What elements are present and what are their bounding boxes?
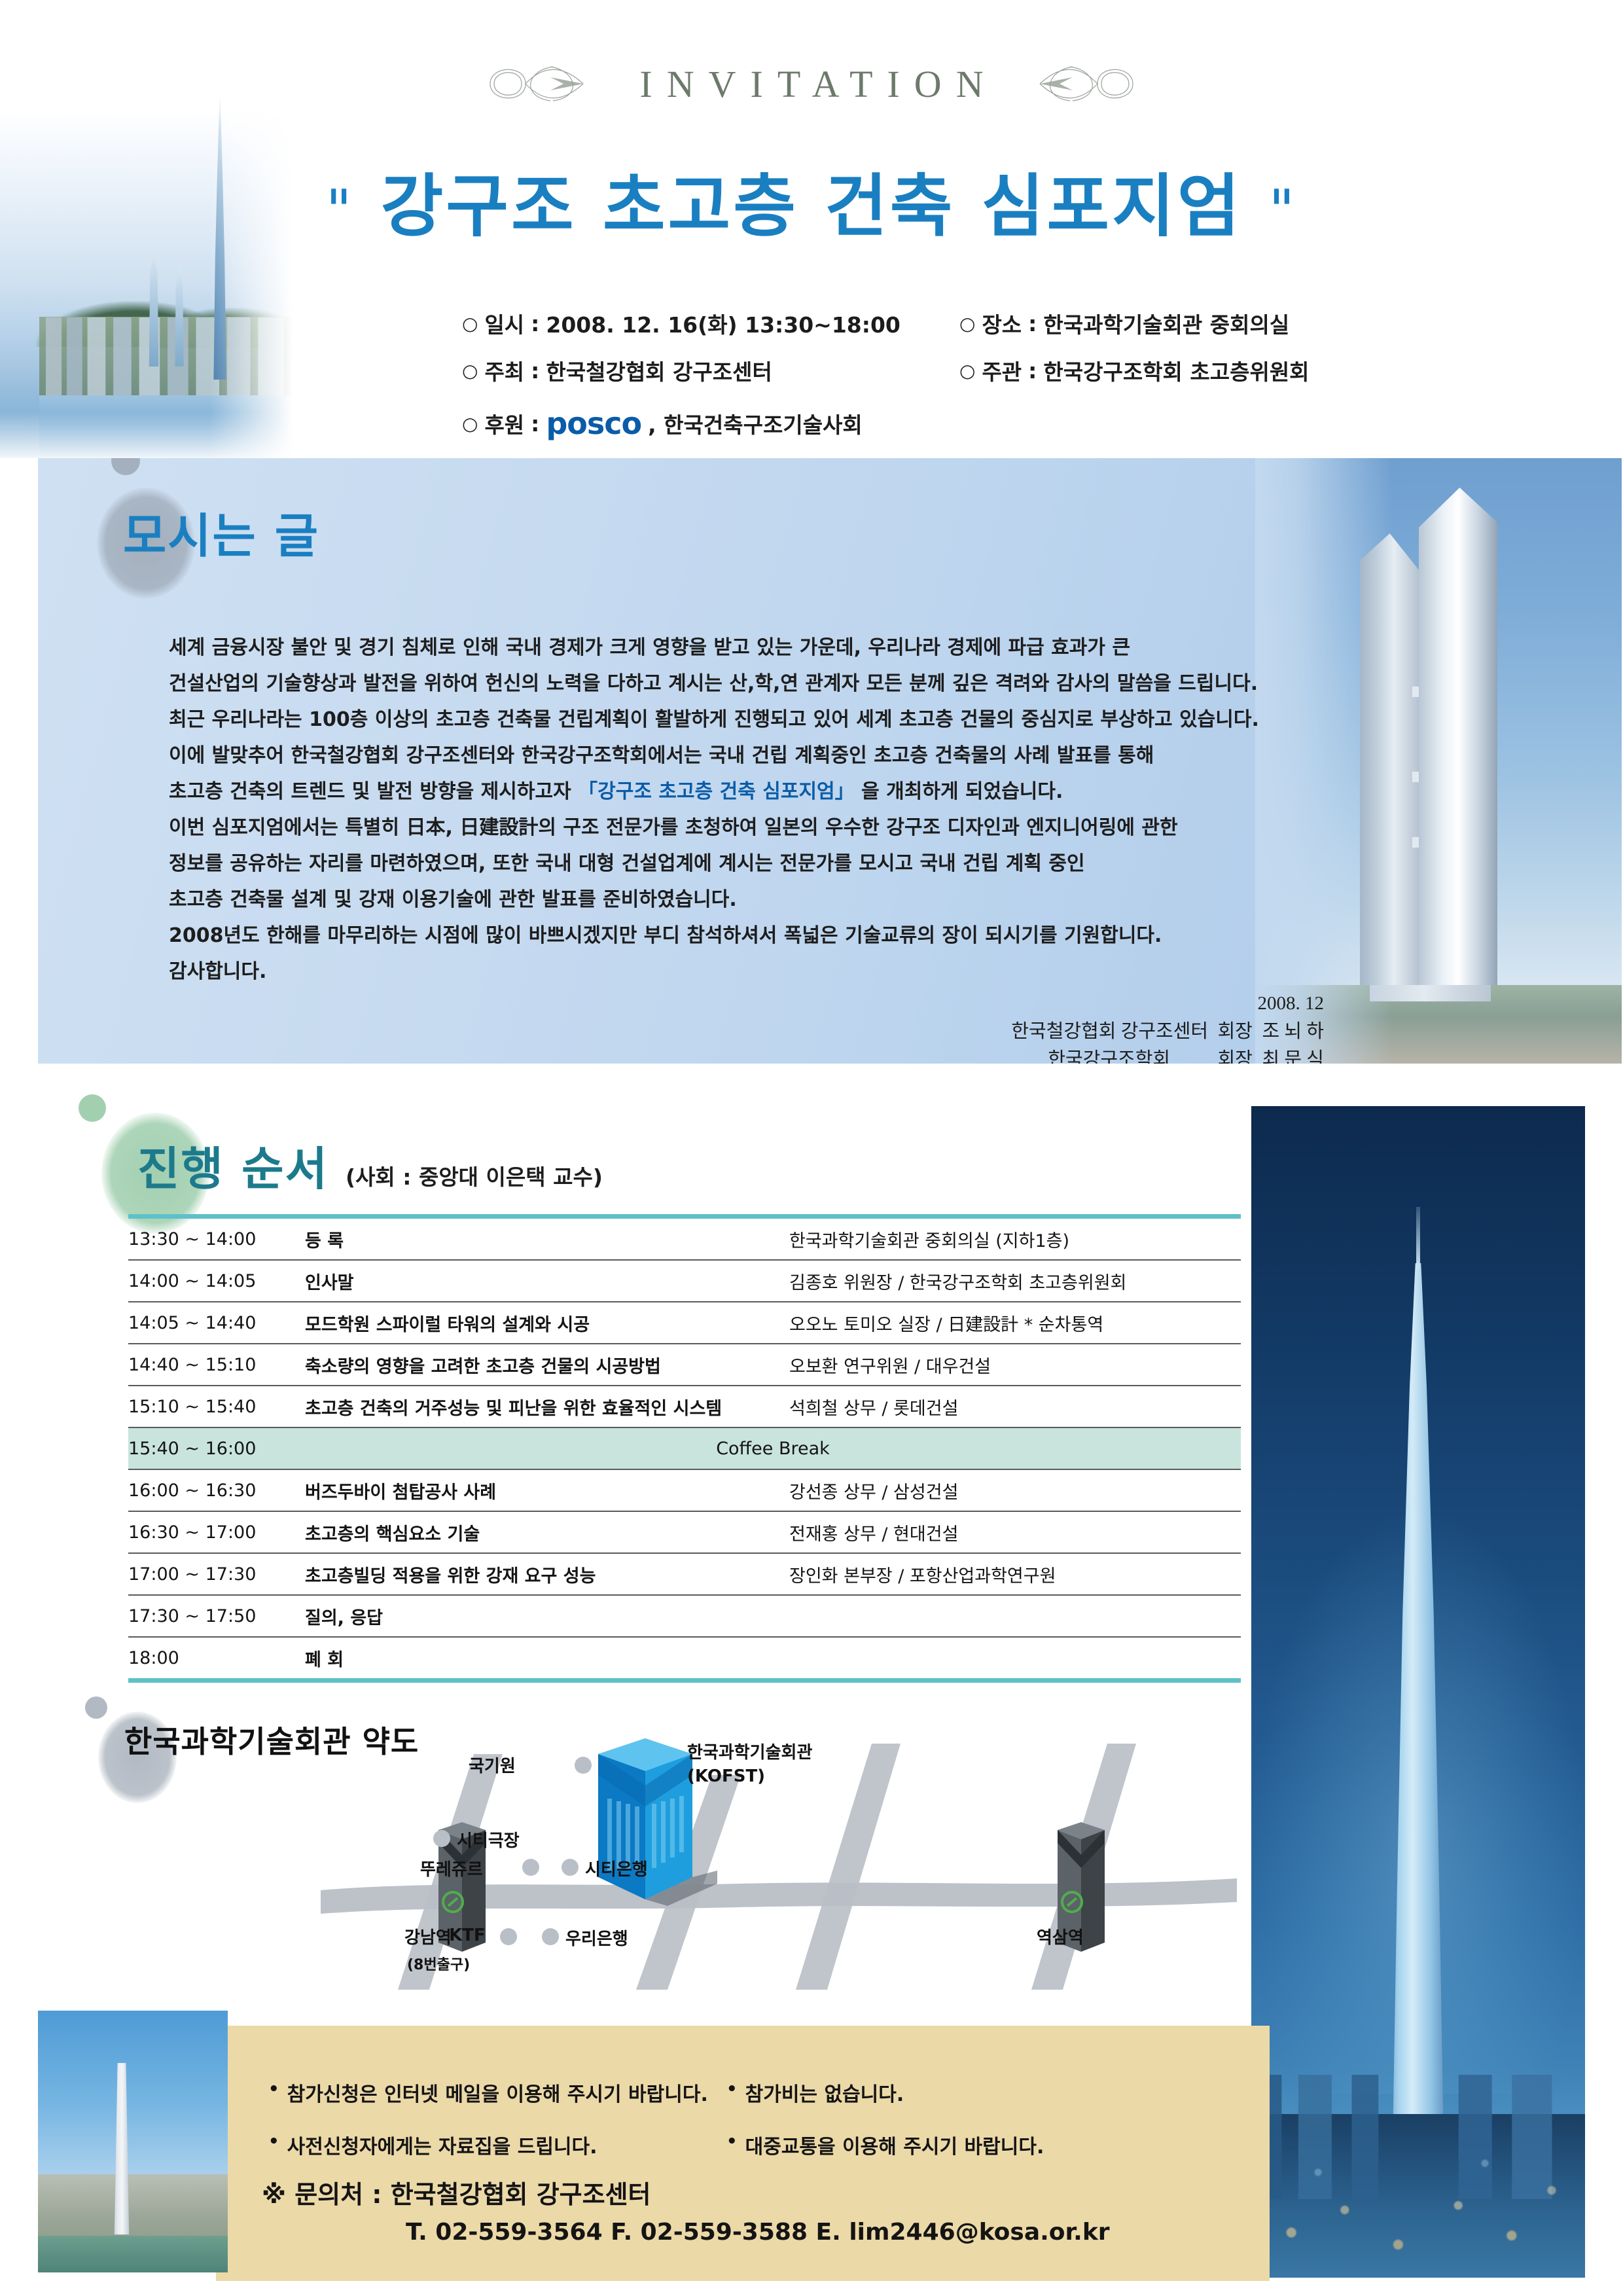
row-topic: 축소량의 영향을 고려한 초고층 건물의 시공방법 xyxy=(305,1344,789,1386)
greeting-highlight-suffix: 을 개최하게 되었습니다. xyxy=(855,780,1063,803)
footer-note: • 대중교통을 이용해 주시기 바랍니다. xyxy=(726,2130,1145,2159)
bullet-icon: • xyxy=(726,2078,738,2100)
footer-note-text: 참가비는 없습니다. xyxy=(745,2078,904,2107)
footer-contact-label: 문의처 : 한국철강협회 강구조센터 xyxy=(294,2180,651,2209)
row-speaker: 김종호 위원장 / 한국강구조학회 초고층위원회 xyxy=(789,1260,1241,1302)
circle-bullet-icon: ○ xyxy=(462,313,478,334)
greeting-paragraph: 감사합니다. xyxy=(169,954,1334,990)
page-title: " 강구조 초고층 건축 심포지엄 " xyxy=(0,151,1623,249)
row-time: 17:00 ~ 17:30 xyxy=(128,1553,305,1595)
meta-colon-date: : xyxy=(531,311,539,336)
map-label-venue: 한국과학기술회관 (KOFST) xyxy=(687,1741,812,1788)
greeting-paragraph: 2008년도 한해를 마무리하는 시점에 많이 바쁘시겠지만 부디 참석하셔서 … xyxy=(169,918,1334,954)
row-topic: 등 록 xyxy=(305,1217,789,1261)
greeting-panel: 모시는 글 세계 금융시장 불안 및 경기 침체로 인해 국내 경제가 크게 영… xyxy=(38,458,1622,1064)
circle-bullet-icon: ○ xyxy=(462,360,478,382)
row-time: 15:40 ~ 16:00 xyxy=(128,1427,305,1469)
greeting-signature: 2008. 12 한국철강협회 강구조센터 회장 조 뇌 하 한국강구조학회 회… xyxy=(1011,990,1324,1064)
flourish-left-icon xyxy=(485,58,596,110)
meta-colon-sponsor: : xyxy=(531,411,539,437)
greeting-paragraph: 세계 금융시장 불안 및 경기 침체로 인해 국내 경제가 크게 영향을 받고 … xyxy=(169,630,1334,666)
footer-notes: • 참가신청은 인터넷 메일을 이용해 주시기 바랍니다. • 참가비는 없습니… xyxy=(268,2078,1185,2159)
greeting-tower-main xyxy=(1419,488,1497,985)
program-heading-dot xyxy=(79,1094,106,1122)
meta-colon-organizer: : xyxy=(1028,358,1037,384)
meta-value-venue: 한국과학기술회관 중회의실 xyxy=(1043,308,1289,339)
meta-label-host: 주최 xyxy=(484,355,524,386)
program-heading: 진행 순서 xyxy=(137,1132,329,1198)
footer-contact-line: T. 02-559-3564 F. 02-559-3588 E. lim2446… xyxy=(406,2219,1110,2246)
meta-item-venue: ○ 장소 : 한국과학기술회관 중회의실 xyxy=(959,308,1522,339)
meta-label-date: 일시 xyxy=(484,308,524,339)
meta-colon-venue: : xyxy=(1028,311,1037,336)
table-row: 14:05 ~ 14:40 모드학원 스파이럴 타워의 설계와 시공 오오노 토… xyxy=(128,1302,1241,1344)
greeting-paragraph: 이번 심포지엄에서는 특별히 日本, 日建設計의 구조 전문가를 초청하여 일본… xyxy=(169,810,1334,846)
map-dot-city-theater xyxy=(433,1830,450,1847)
meta-value-organizer: 한국강구조학회 초고층위원회 xyxy=(1043,355,1309,386)
bullet-icon: • xyxy=(726,2130,738,2153)
title-close-quote: " xyxy=(1269,178,1298,243)
greeting-paragraph: 정보를 공유하는 자리를 마련하였으며, 또한 국내 대형 건설업계에 계시는 … xyxy=(169,846,1334,882)
circle-bullet-icon: ○ xyxy=(959,313,975,334)
table-row: 16:00 ~ 16:30 버즈두바이 첨탑공사 사례 강선종 상무 / 삼성건… xyxy=(128,1469,1241,1511)
title-open-quote: " xyxy=(326,178,355,243)
row-time: 14:40 ~ 15:10 xyxy=(128,1344,305,1386)
poster-page: INVITATION " 강구조 초고층 건축 심포지엄 " ○ 일시 xyxy=(0,0,1623,2296)
map-label-city-theater: 시티극장 xyxy=(457,1827,520,1852)
greeting-paragraph-highlight: 초고층 건축의 트렌드 및 발전 방향을 제시하고자 「강구조 초고층 건축 심… xyxy=(169,774,1334,810)
map-dot-woori-bank xyxy=(542,1928,559,1945)
program-schedule-table: 13:30 ~ 14:00 등 록 한국과학기술회관 중회의실 (지하1층) 1… xyxy=(128,1214,1241,1683)
night-tower-spire xyxy=(1416,1207,1420,1270)
table-row: 14:40 ~ 15:10 축소량의 영향을 고려한 초고층 건물의 시공방법 … xyxy=(128,1344,1241,1386)
row-topic: 폐 회 xyxy=(305,1637,789,1681)
greeting-body: 세계 금융시장 불안 및 경기 침체로 인해 국내 경제가 크게 영향을 받고 … xyxy=(169,630,1334,990)
row-speaker: 장인화 본부장 / 포항산업과학연구원 xyxy=(789,1553,1241,1595)
map-label-tous-les-jours: 뚜레쥬르 xyxy=(420,1856,483,1880)
night-city-lights xyxy=(1251,2127,1585,2278)
map-label-yeoksam-station: 역삼역 xyxy=(1037,1924,1084,1948)
table-row: 14:00 ~ 14:05 인사말 김종호 위원장 / 한국강구조학회 초고층위… xyxy=(128,1260,1241,1302)
map-dot-gukkiwon xyxy=(575,1757,592,1774)
meta-item-host: ○ 주최 : 한국철강협회 강구조센터 xyxy=(462,355,959,386)
signature-date: 2008. 12 xyxy=(1011,990,1324,1018)
footer-tower-image xyxy=(38,2011,228,2272)
row-speaker: 석희철 상무 / 롯데건설 xyxy=(789,1386,1241,1427)
map-label-gangnam-station: 강남역 xyxy=(404,1924,452,1948)
map-dot-citibank xyxy=(562,1859,579,1876)
signature-line-2: 한국강구조학회 회장 최 문 식 xyxy=(1011,1046,1324,1064)
map-label-citibank: 시티은행 xyxy=(585,1856,648,1880)
footer-note: • 참가비는 없습니다. xyxy=(726,2078,1145,2107)
greeting-paragraph: 초고층 건축물 설계 및 강재 이용기술에 관한 발표를 준비하였습니다. xyxy=(169,882,1334,918)
row-speaker: 강선종 상무 / 삼성건설 xyxy=(789,1469,1241,1511)
title-text: 강구조 초고층 건축 심포지엄 xyxy=(381,166,1243,246)
footer-note-text: 참가신청은 인터넷 메일을 이용해 주시기 바랍니다. xyxy=(287,2078,708,2107)
footer-river xyxy=(38,2236,228,2272)
map-label-gangnam-exit: (8번출구) xyxy=(407,1953,470,1974)
greeting-heading: 모시는 글 xyxy=(123,497,319,566)
meta-item-organizer: ○ 주관 : 한국강구조학회 초고층위원회 xyxy=(959,355,1522,386)
map-heading-dot xyxy=(85,1696,107,1719)
row-topic: 인사말 xyxy=(305,1260,789,1302)
night-tower-image xyxy=(1251,1106,1585,2278)
row-time: 18:00 xyxy=(128,1637,305,1681)
greeting-paragraph: 건설산업의 기술향상과 발전을 위하여 헌신의 노력을 다하고 계시는 산,학,… xyxy=(169,666,1334,702)
footer-note: • 참가신청은 인터넷 메일을 이용해 주시기 바랍니다. xyxy=(268,2078,726,2107)
map-label-woori-bank: 우리은행 xyxy=(565,1926,628,1950)
row-topic: 초고층빌딩 적용을 위한 강재 요구 성능 xyxy=(305,1553,789,1595)
map-dot-ktf xyxy=(500,1928,517,1945)
row-time: 15:10 ~ 15:40 xyxy=(128,1386,305,1427)
meta-spacer xyxy=(959,402,1522,441)
event-meta: ○ 일시 : 2008. 12. 16(화) 13:30~18:00 ○ 장소 … xyxy=(462,308,1509,441)
program-moderator: (사회 : 중앙대 이은택 교수) xyxy=(346,1160,603,1191)
greeting-highlight-prefix: 초고층 건축의 트렌드 및 발전 방향을 제시하고자 xyxy=(169,780,578,803)
meta-colon-host: : xyxy=(531,358,539,384)
row-speaker: 전재홍 상무 / 현대건설 xyxy=(789,1511,1241,1553)
table-row: 13:30 ~ 14:00 등 록 한국과학기술회관 중회의실 (지하1층) xyxy=(128,1217,1241,1261)
circle-bullet-icon: ○ xyxy=(959,360,975,382)
footer-note: • 사전신청자에게는 자료집을 드립니다. xyxy=(268,2130,726,2159)
footer-note-text: 대중교통을 이용해 주시기 바랍니다. xyxy=(745,2130,1044,2159)
row-topic: 초고층의 핵심요소 기술 xyxy=(305,1511,789,1553)
footer-note-text: 사전신청자에게는 자료집을 드립니다. xyxy=(287,2130,597,2159)
table-row-coffee-break: 15:40 ~ 16:00 Coffee Break xyxy=(128,1427,1241,1469)
map-venue-name: 한국과학기술회관 xyxy=(687,1743,812,1763)
table-row: 17:00 ~ 17:30 초고층빌딩 적용을 위한 강재 요구 성능 장인화 … xyxy=(128,1553,1241,1595)
meta-label-organizer: 주관 xyxy=(982,355,1022,386)
program-heading-wrap: 진행 순서 (사회 : 중앙대 이은택 교수) xyxy=(137,1132,603,1198)
greeting-paragraph: 이에 발맞추어 한국철강협회 강구조센터와 한국강구조학회에서는 국내 건립 계… xyxy=(169,738,1334,774)
row-time: 14:00 ~ 14:05 xyxy=(128,1260,305,1302)
greeting-paragraph: 최근 우리나라는 100층 이상의 초고층 건축물 건립계획이 활발하게 진행되… xyxy=(169,702,1334,738)
hero-fade-bottom xyxy=(0,412,308,458)
row-topic: 버즈두바이 첨탑공사 사례 xyxy=(305,1469,789,1511)
table-row: 16:30 ~ 17:00 초고층의 핵심요소 기술 전재홍 상무 / 현대건설 xyxy=(128,1511,1241,1553)
map-dot-tous-les-jours xyxy=(522,1859,539,1876)
row-topic: 질의, 응답 xyxy=(305,1595,789,1637)
row-time: 13:30 ~ 14:00 xyxy=(128,1217,305,1261)
meta-label-sponsor: 후원 xyxy=(484,408,524,439)
map-venue-sub: (KOFST) xyxy=(687,1767,765,1786)
posco-logo: posco xyxy=(546,406,641,441)
table-row: 15:10 ~ 15:40 초고층 건축의 거주성능 및 피난을 위한 효율적인… xyxy=(128,1386,1241,1427)
reference-mark-icon: ※ xyxy=(262,2180,286,2209)
venue-map: 국기원 한국과학기술회관 (KOFST) 시티극장 뚜레쥬르 시티은행 KTF … xyxy=(314,1715,1243,1990)
row-speaker: 오오노 토미오 실장 / 日建設計 * 순차통역 xyxy=(789,1302,1241,1344)
row-speaker: 오보환 연구위원 / 대우건설 xyxy=(789,1344,1241,1386)
greeting-symposium-name: 「강구조 초고층 건축 심포지엄」 xyxy=(578,780,855,803)
bullet-icon: • xyxy=(268,2078,279,2100)
row-topic: 초고층 건축의 거주성능 및 피난을 위한 효율적인 시스템 xyxy=(305,1386,789,1427)
row-time: 14:05 ~ 14:40 xyxy=(128,1302,305,1344)
row-speaker xyxy=(789,1595,1241,1637)
row-speaker xyxy=(789,1637,1241,1681)
bullet-icon: • xyxy=(268,2130,279,2153)
greeting-heading-dot xyxy=(111,458,140,475)
meta-value-host: 한국철강협회 강구조센터 xyxy=(546,355,772,386)
meta-value-sponsor: , 한국건축구조기술사회 xyxy=(648,408,863,439)
invitation-banner: INVITATION xyxy=(0,58,1623,110)
meta-label-venue: 장소 xyxy=(982,308,1022,339)
signature-line-1: 한국철강협회 강구조센터 회장 조 뇌 하 xyxy=(1011,1018,1324,1046)
row-time: 16:00 ~ 16:30 xyxy=(128,1469,305,1511)
meta-value-date: 2008. 12. 16(화) 13:30~18:00 xyxy=(546,308,901,339)
row-topic: 모드학원 스파이럴 타워의 설계와 시공 xyxy=(305,1302,789,1344)
map-label-gukkiwon: 국기원 xyxy=(469,1753,516,1777)
table-row: 17:30 ~ 17:50 질의, 응답 xyxy=(128,1595,1241,1637)
row-time: 16:30 ~ 17:00 xyxy=(128,1511,305,1553)
table-row: 18:00 폐 회 xyxy=(128,1637,1241,1681)
map-label-ktf: KTF xyxy=(449,1926,486,1945)
meta-item-sponsor: ○ 후원 : posco , 한국건축구조기술사회 xyxy=(462,406,959,441)
meta-item-date: ○ 일시 : 2008. 12. 16(화) 13:30~18:00 xyxy=(462,308,959,339)
row-time: 17:30 ~ 17:50 xyxy=(128,1595,305,1637)
row-break-label: Coffee Break xyxy=(305,1427,1241,1469)
invitation-title: INVITATION xyxy=(625,62,997,106)
flourish-right-icon xyxy=(1027,58,1138,110)
circle-bullet-icon: ○ xyxy=(462,413,478,435)
footer-contact-heading: ※ 문의처 : 한국철강협회 강구조센터 xyxy=(262,2174,651,2210)
row-speaker: 한국과학기술회관 중회의실 (지하1층) xyxy=(789,1217,1241,1261)
